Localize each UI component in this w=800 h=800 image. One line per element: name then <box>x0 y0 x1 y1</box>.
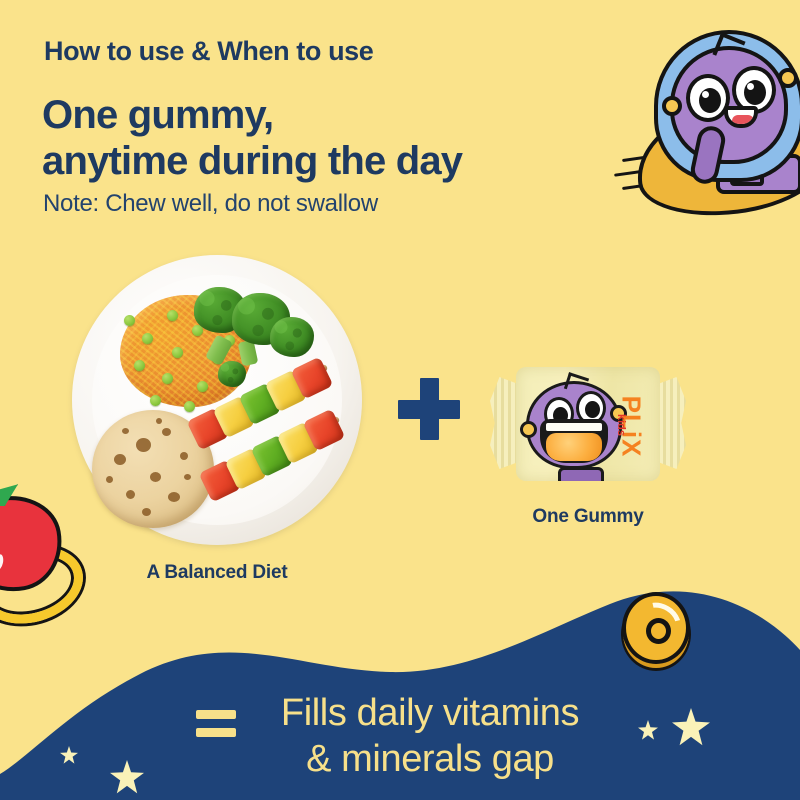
balanced-diet-plate-image <box>72 255 362 545</box>
gummy-mascot-body <box>558 467 604 481</box>
pea <box>134 360 145 371</box>
broccoli-floret <box>270 317 314 357</box>
pea <box>197 381 208 392</box>
gummy-mascot-face <box>522 375 626 475</box>
page-kicker: How to use & When to use <box>44 36 664 67</box>
page-title: One gummy, anytime during the day <box>42 92 702 185</box>
roti-spot <box>126 490 135 499</box>
usage-note: Note: Chew well, do not swallow <box>43 190 663 218</box>
plus-icon <box>398 378 460 440</box>
mascot-pupil-right <box>744 80 766 105</box>
plix-logo: PLiX kids <box>614 381 648 473</box>
orange-gummy-piece <box>546 433 602 461</box>
pea <box>184 401 195 412</box>
donut-highlight <box>632 595 688 648</box>
one-gummy-caption: One Gummy <box>488 506 688 528</box>
roti-spot <box>168 492 180 502</box>
alien-mascot-spaceship-icon <box>612 8 800 223</box>
headline-line-2: anytime during the day <box>42 138 702 184</box>
gold-donut-icon <box>622 592 690 664</box>
roti-spot <box>184 474 191 480</box>
mascot-tongue <box>732 115 754 124</box>
result-line-1: Fills daily vitamins <box>170 690 690 736</box>
mascot-ear-left <box>662 96 682 116</box>
pea <box>172 347 183 358</box>
pea <box>167 310 178 321</box>
roti-spot <box>122 428 129 434</box>
broccoli-floret <box>218 361 246 387</box>
gummy-mascot-mouth <box>540 419 608 463</box>
gummy-mascot-pupil-right <box>585 401 600 418</box>
gummy-mascot-teeth <box>546 423 602 431</box>
roti-spot <box>156 418 162 424</box>
roti-spot <box>106 476 113 483</box>
mascot-eye-glint <box>702 91 709 98</box>
gummy-mascot-ear-left <box>520 421 537 438</box>
roti-spot <box>114 454 126 465</box>
result-text: Fills daily vitamins & minerals gap <box>170 690 690 783</box>
pea <box>162 373 173 384</box>
roti-spot <box>150 472 161 482</box>
roti-spot <box>162 428 171 436</box>
gummy-wrapper-image: PLiX kids <box>490 363 686 485</box>
pea <box>124 315 135 326</box>
brand-sub: kids <box>615 414 627 436</box>
pea <box>150 395 161 406</box>
roti-spot <box>180 452 188 460</box>
plus-bar-vertical <box>420 378 439 440</box>
result-line-2: & minerals gap <box>170 736 690 782</box>
mascot-ear-right <box>778 68 798 88</box>
roti-spot <box>136 438 151 452</box>
roti-spot <box>142 508 151 516</box>
mascot-eye-glint <box>747 83 754 90</box>
mascot-pupil-left <box>699 88 721 113</box>
pea <box>142 333 153 344</box>
wrapper-body: PLiX kids <box>516 367 660 481</box>
headline-line-1: One gummy, <box>42 92 702 138</box>
poster-canvas: How to use & When to use One gummy, anyt… <box>0 0 800 800</box>
